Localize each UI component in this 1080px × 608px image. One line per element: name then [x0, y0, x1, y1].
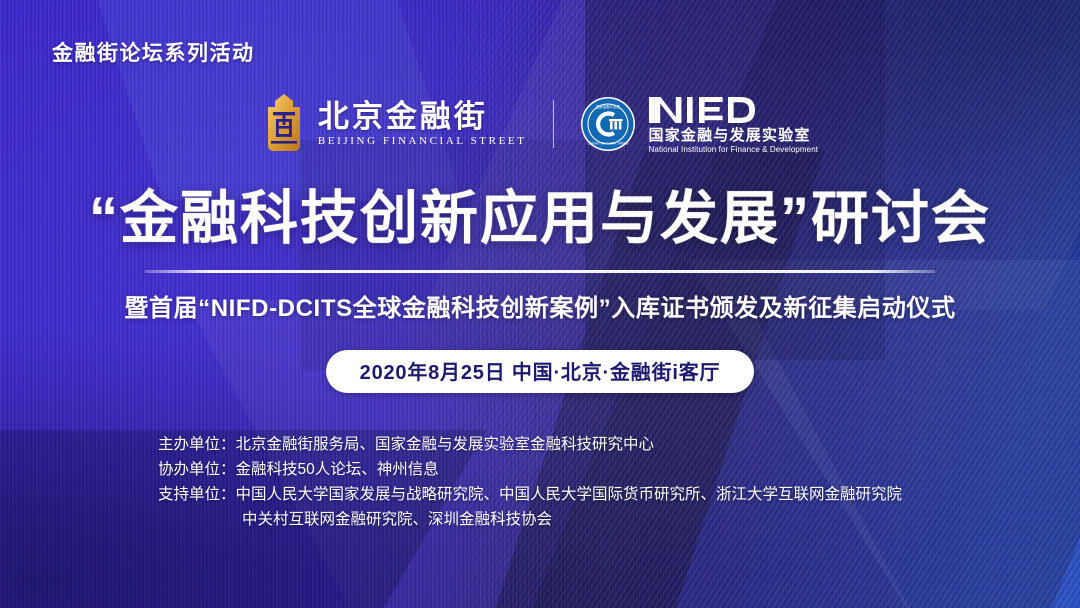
date-venue-row: 2020年8月25日 中国·北京·金融街i客厅	[0, 350, 1080, 393]
logo-beijing-financial-street: 北京金融街 BEIJING FINANCIAL STREET	[262, 93, 527, 155]
beijing-financial-street-emblem-icon	[262, 93, 306, 155]
nifd-mark-icon	[649, 95, 819, 125]
date-venue-badge: 2020年8月25日 中国·北京·金融街i客厅	[326, 350, 755, 393]
credit-line-host: 主办单位：北京金融街服务局、国家金融与发展实验室金融科技研究中心	[158, 432, 902, 457]
credit-line-supporters-cont: 中关村互联网金融研究院、深圳金融科技协会	[158, 507, 902, 532]
series-kicker: 金融街论坛系列活动	[52, 37, 255, 67]
logo-divider	[553, 100, 554, 148]
event-poster: 金融街论坛系列活动	[0, 0, 1080, 608]
svg-text:CHINA TOP THINK TANKS: CHINA TOP THINK TANKS	[587, 142, 629, 146]
credit-line-supporters: 支持单位：中国人民大学国家发展与战略研究院、中国人民大学国际货币研究所、浙江大学…	[158, 482, 902, 507]
logo-nifd: 国家金融与发展 CHINA TOP THINK TANKS	[580, 95, 819, 154]
beijing-financial-street-wordmark: 北京金融街 BEIJING FINANCIAL STREET	[318, 101, 527, 147]
bfs-name-en: BEIJING FINANCIAL STREET	[318, 136, 527, 147]
credit-line-co-host: 协办单位：金融科技50人论坛、神州信息	[158, 457, 902, 482]
nifd-seal-icon: 国家金融与发展 CHINA TOP THINK TANKS	[580, 96, 636, 152]
poster-content: 金融街论坛系列活动	[0, 0, 1080, 608]
bfs-name-cn: 北京金融街	[318, 101, 527, 132]
organizer-credits: 主办单位：北京金融街服务局、国家金融与发展实验室金融科技研究中心 协办单位：金融…	[158, 432, 902, 532]
page-subtitle: 暨首届“NIFD-DCITS全球金融科技创新案例”入库证书颁发及新征集启动仪式	[0, 288, 1080, 323]
title-divider	[145, 270, 935, 273]
nifd-wordmark: 国家金融与发展实验室 National Institution for Fina…	[649, 95, 819, 154]
logo-row: 北京金融街 BEIJING FINANCIAL STREET	[0, 88, 1080, 160]
svg-text:国家金融与发展: 国家金融与发展	[596, 104, 620, 109]
nifd-name-en: National Institution for Finance & Devel…	[649, 146, 819, 154]
page-title: “金融科技创新应用与发展”研讨会	[0, 186, 1080, 253]
nifd-name-cn: 国家金融与发展实验室	[649, 128, 819, 143]
